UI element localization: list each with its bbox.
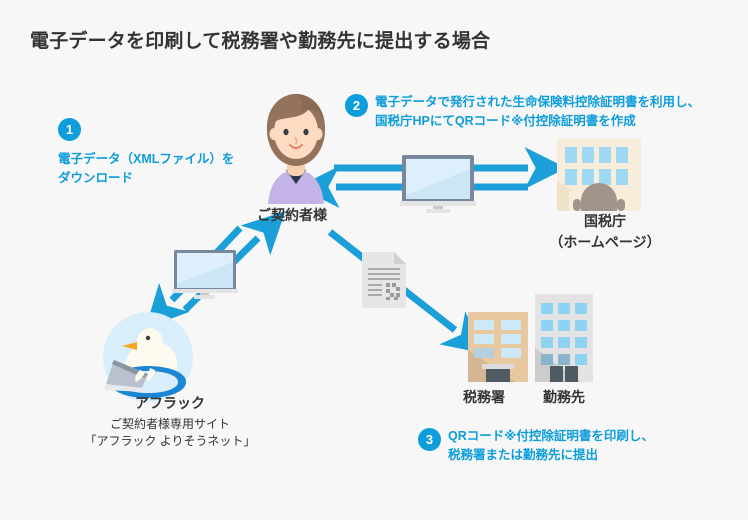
step-text-3-line2: 税務署または勤務先に提出	[448, 446, 654, 465]
person-avatar-icon	[250, 86, 342, 204]
aflac-duck-laptop-icon	[90, 312, 206, 402]
aflac-label: アフラック	[70, 393, 270, 413]
nta-label-line2: （ホームページ）	[545, 232, 665, 253]
aflac-sublabel-line1: ご契約者様専用サイト	[60, 416, 280, 433]
step-text-1-line1: 電子データ（XMLファイル）を	[58, 150, 234, 169]
qr-certificate-document-icon	[362, 252, 406, 308]
step-text-2-line1: 電子データで発行された生命保険料控除証明書を利用し、	[375, 93, 700, 112]
government-building-icon	[551, 139, 647, 211]
nta-label: 国税庁 （ホームページ）	[545, 211, 665, 253]
workplace-label: 勤務先	[524, 387, 604, 407]
workplace-building-icon	[535, 294, 593, 382]
contractor-label: ご契約者様	[232, 205, 352, 225]
step-text-1: 電子データ（XMLファイル）を ダウンロード	[58, 150, 234, 188]
nta-label-line1: 国税庁	[545, 211, 665, 232]
tax-office-building-icon	[468, 312, 528, 382]
step-badge-1: 1	[58, 118, 81, 141]
step-text-2-line2: 国税庁HPにてQRコード※付控除証明書を作成	[375, 112, 700, 131]
desktop-monitor-icon-center	[400, 155, 476, 213]
step-text-3-line1: QRコード※付控除証明書を印刷し、	[448, 427, 654, 446]
step-text-2: 電子データで発行された生命保険料控除証明書を利用し、 国税庁HPにてQRコード※…	[375, 93, 700, 131]
step-text-1-line2: ダウンロード	[58, 169, 234, 188]
step-text-3: QRコード※付控除証明書を印刷し、 税務署または勤務先に提出	[448, 427, 654, 465]
aflac-sublabel-line2: 「アフラック よりそうネット」	[60, 433, 280, 450]
step-badge-3: 3	[418, 428, 441, 451]
aflac-sublabel: ご契約者様専用サイト 「アフラック よりそうネット」	[60, 416, 280, 450]
desktop-monitor-icon-left	[172, 250, 238, 300]
step-badge-2: 2	[345, 94, 368, 117]
diagram-canvas: 電子データを印刷して税務署や勤務先に提出する場合	[0, 0, 748, 520]
tax-office-label: 税務署	[444, 387, 524, 407]
